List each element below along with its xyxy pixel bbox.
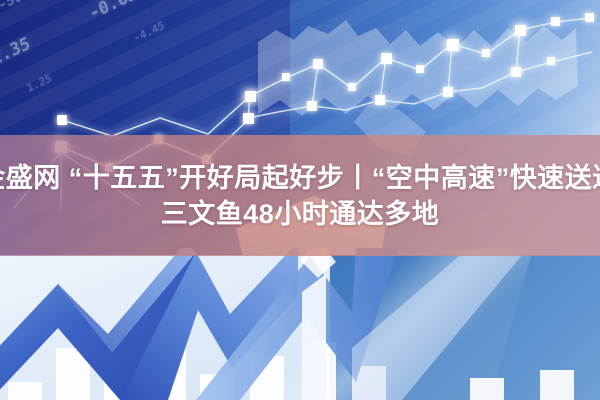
headline-line-1: 金盛网 “十五五”开好局起好步丨“空中高速”快速送达 [0, 161, 600, 195]
news-banner: 21.1545.024.3610.02-02.36-11.25-50.021.1… [0, 0, 600, 400]
headline-line-2: 三文鱼48小时通达多地 [161, 197, 440, 231]
growth-arrow-ribbons [0, 248, 600, 400]
headline-block: 金盛网 “十五五”开好局起好步丨“空中高速”快速送达 三文鱼48小时通达多地 [0, 135, 600, 256]
